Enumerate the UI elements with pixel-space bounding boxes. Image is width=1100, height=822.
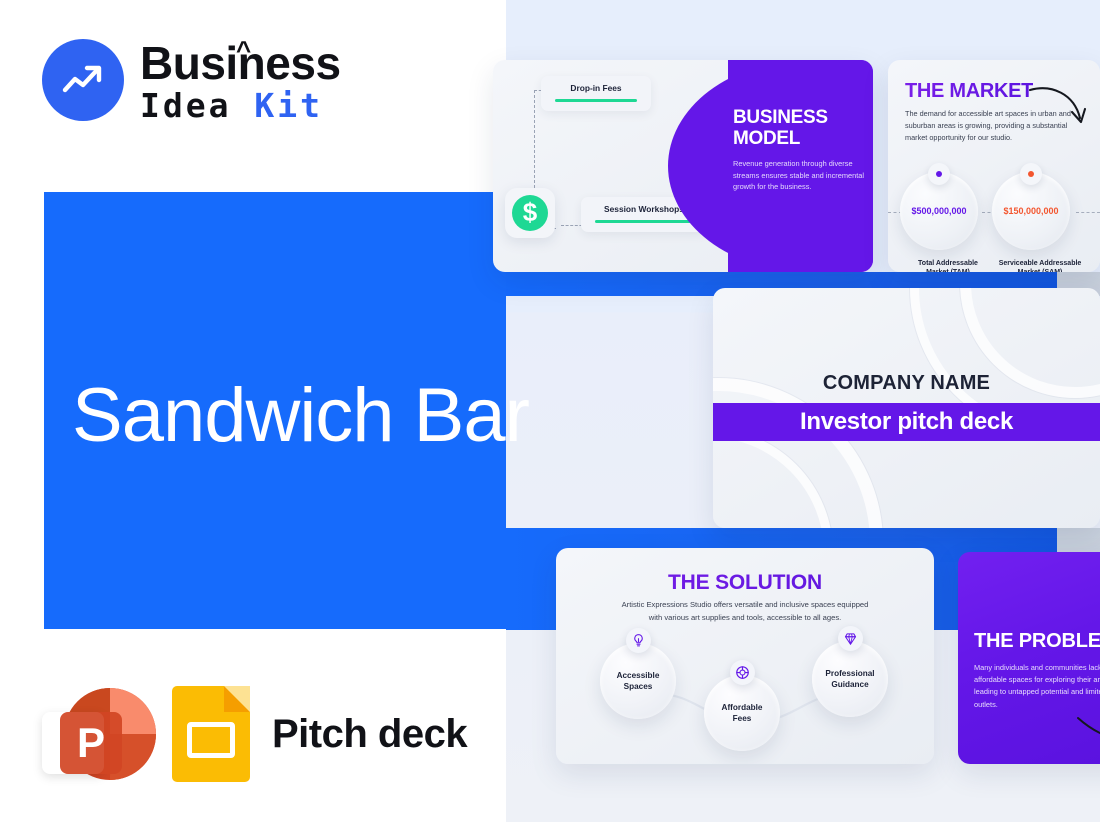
accent-underline bbox=[595, 220, 693, 223]
metric-dot bbox=[1028, 171, 1034, 177]
problem-heading: THE PROBLEM bbox=[974, 630, 1100, 653]
revenue-stream-item[interactable]: Drop-in Fees bbox=[541, 76, 651, 111]
solution-pillar-affordable-fees[interactable]: Affordable Fees bbox=[704, 675, 780, 751]
powerpoint-icon[interactable]: P bbox=[42, 684, 150, 784]
slide-preview-market[interactable]: THE MARKET The demand for accessible art… bbox=[888, 60, 1100, 272]
brand-line-idea-kit: Idea Kit bbox=[140, 89, 341, 122]
metric-knob bbox=[1020, 163, 1042, 185]
growth-arrow-chart-icon bbox=[42, 39, 124, 121]
decorative-swoosh-icon bbox=[1076, 716, 1100, 750]
circumflex-accent-icon: ^ bbox=[236, 37, 251, 63]
business-model-heading: BUSINESS MODEL bbox=[733, 108, 865, 149]
market-heading: THE MARKET bbox=[905, 80, 1033, 103]
pillar-label: Professional Guidance bbox=[825, 668, 874, 690]
lightbulb-icon bbox=[626, 628, 651, 653]
brand-line-business: Business ^ bbox=[140, 40, 341, 86]
brand-wordmark: Business ^ Idea Kit bbox=[140, 38, 341, 122]
slide-preview-business-model[interactable]: $ Drop-in Fees Session Workshops Commiss… bbox=[493, 60, 873, 272]
powerpoint-letter: P bbox=[60, 712, 122, 774]
metric-dot bbox=[936, 171, 942, 177]
metric-caption: Total Addressable Market (TAM) bbox=[900, 259, 996, 272]
market-metric-sam[interactable]: $150,000,000 Serviceable Addressable Mar… bbox=[992, 172, 1088, 272]
pillar-label: Accessible Spaces bbox=[617, 670, 660, 692]
dollar-glyph: $ bbox=[512, 195, 548, 231]
problem-body: Many individuals and communities lack ac… bbox=[974, 662, 1100, 711]
business-model-body: Revenue generation through diverse strea… bbox=[733, 158, 865, 192]
solution-pillar-accessible-spaces[interactable]: Accessible Spaces bbox=[600, 643, 676, 719]
solution-heading: THE SOLUTION bbox=[556, 571, 934, 595]
target-compass-icon bbox=[730, 660, 755, 685]
market-body: The demand for accessible art spaces in … bbox=[905, 108, 1077, 144]
metric-value: $150,000,000 bbox=[1003, 206, 1058, 216]
diamond-icon bbox=[838, 626, 863, 651]
pillar-label: Affordable Fees bbox=[722, 702, 763, 724]
metric-value: $500,000,000 bbox=[911, 206, 966, 216]
white-left-margin bbox=[0, 192, 44, 629]
title-subtitle-band: Investor pitch deck bbox=[713, 403, 1100, 441]
slides-screen-glyph bbox=[187, 722, 235, 758]
metric-dial: $500,000,000 bbox=[900, 172, 978, 250]
solution-pillar-professional-guidance[interactable]: Professional Guidance bbox=[812, 641, 888, 717]
metric-caption: Serviceable Addressable Market (SAM) bbox=[992, 259, 1088, 272]
brand-logo[interactable]: Business ^ Idea Kit bbox=[42, 38, 341, 122]
business-model-copy: BUSINESS MODEL Revenue generation throug… bbox=[733, 108, 865, 192]
slide-preview-solution[interactable]: THE SOLUTION Artistic Expressions Studio… bbox=[556, 548, 934, 764]
format-badges-row: P Pitch deck bbox=[42, 684, 467, 784]
format-label: Pitch deck bbox=[272, 712, 467, 757]
poster-canvas: Business ^ Idea Kit Sandwich Bar P Pitch… bbox=[0, 0, 1100, 822]
market-metric-tam[interactable]: $500,000,000 Total Addressable Market (T… bbox=[900, 172, 996, 272]
solution-body: Artistic Expressions Studio offers versa… bbox=[620, 599, 870, 625]
metric-knob bbox=[928, 163, 950, 185]
title-subtitle: Investor pitch deck bbox=[800, 408, 1013, 436]
dollar-sign-icon: $ bbox=[505, 188, 555, 238]
page-title: Sandwich Bar bbox=[72, 372, 529, 459]
slide-preview-title[interactable]: COMPANY NAME Investor pitch deck bbox=[713, 288, 1100, 528]
google-slides-icon[interactable] bbox=[172, 686, 250, 782]
slide-preview-problem[interactable]: THE PROBLEM Many individuals and communi… bbox=[958, 552, 1100, 764]
title-company-name: COMPANY NAME bbox=[713, 372, 1100, 395]
metric-dial: $150,000,000 bbox=[992, 172, 1070, 250]
accent-underline bbox=[555, 99, 637, 102]
